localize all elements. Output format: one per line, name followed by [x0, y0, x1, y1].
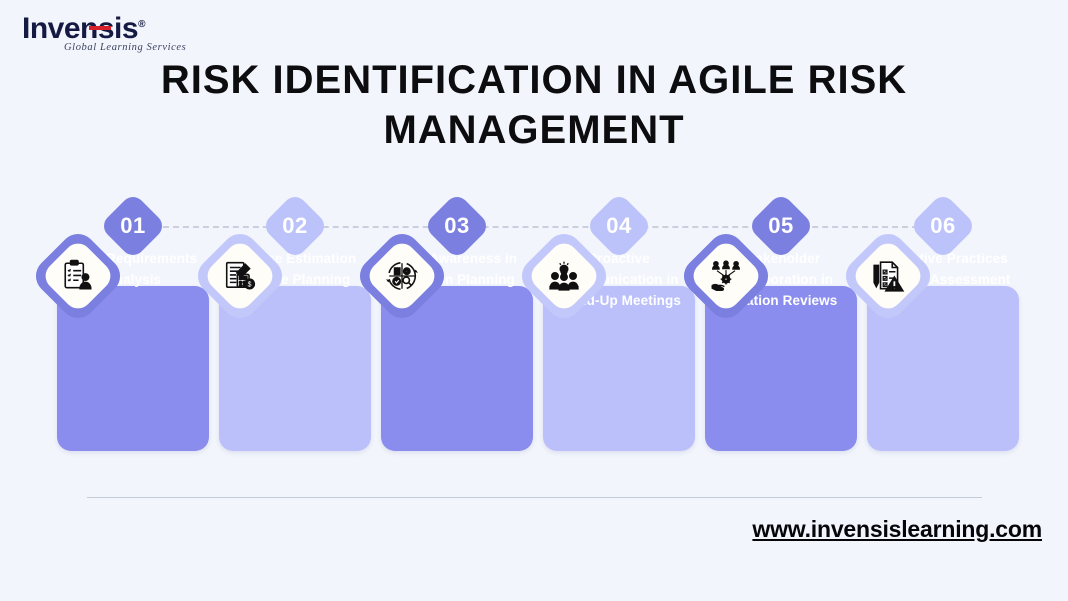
checklist-pencil-warning-icon	[857, 245, 919, 307]
team-meeting-lightbulb-icon	[533, 245, 595, 307]
step-number: 02	[265, 208, 325, 244]
registered-mark: ®	[138, 19, 145, 30]
svg-text:$: $	[248, 282, 252, 289]
step-number: 03	[427, 208, 487, 244]
risk-cycle-quadrant-icon	[371, 245, 433, 307]
invoice-calculator-dollar-icon: $	[209, 245, 271, 307]
step-number: 01	[103, 208, 163, 244]
step-number: 05	[751, 208, 811, 244]
brand-logo: Invensis® Global Learning Services	[22, 10, 212, 54]
clipboard-checklist-person-icon	[47, 245, 109, 307]
logo-red-bar-icon	[89, 26, 111, 30]
logo-wordmark-text: Invensis	[22, 12, 138, 45]
footer-divider	[87, 497, 982, 498]
website-link[interactable]: www.invensislearning.com	[752, 516, 1042, 543]
logo-wordmark: Invensis®	[22, 10, 145, 44]
page-title: RISK IDENTIFICATION IN AGILE RISK MANAGE…	[94, 55, 974, 155]
step-number: 06	[913, 208, 973, 244]
timeline: 01 Early Requirements Analysis $ 02 Prec…	[0, 200, 1068, 460]
step-number: 04	[589, 208, 649, 244]
timeline-connector-line	[133, 226, 948, 228]
hand-stakeholders-gear-icon	[695, 245, 757, 307]
